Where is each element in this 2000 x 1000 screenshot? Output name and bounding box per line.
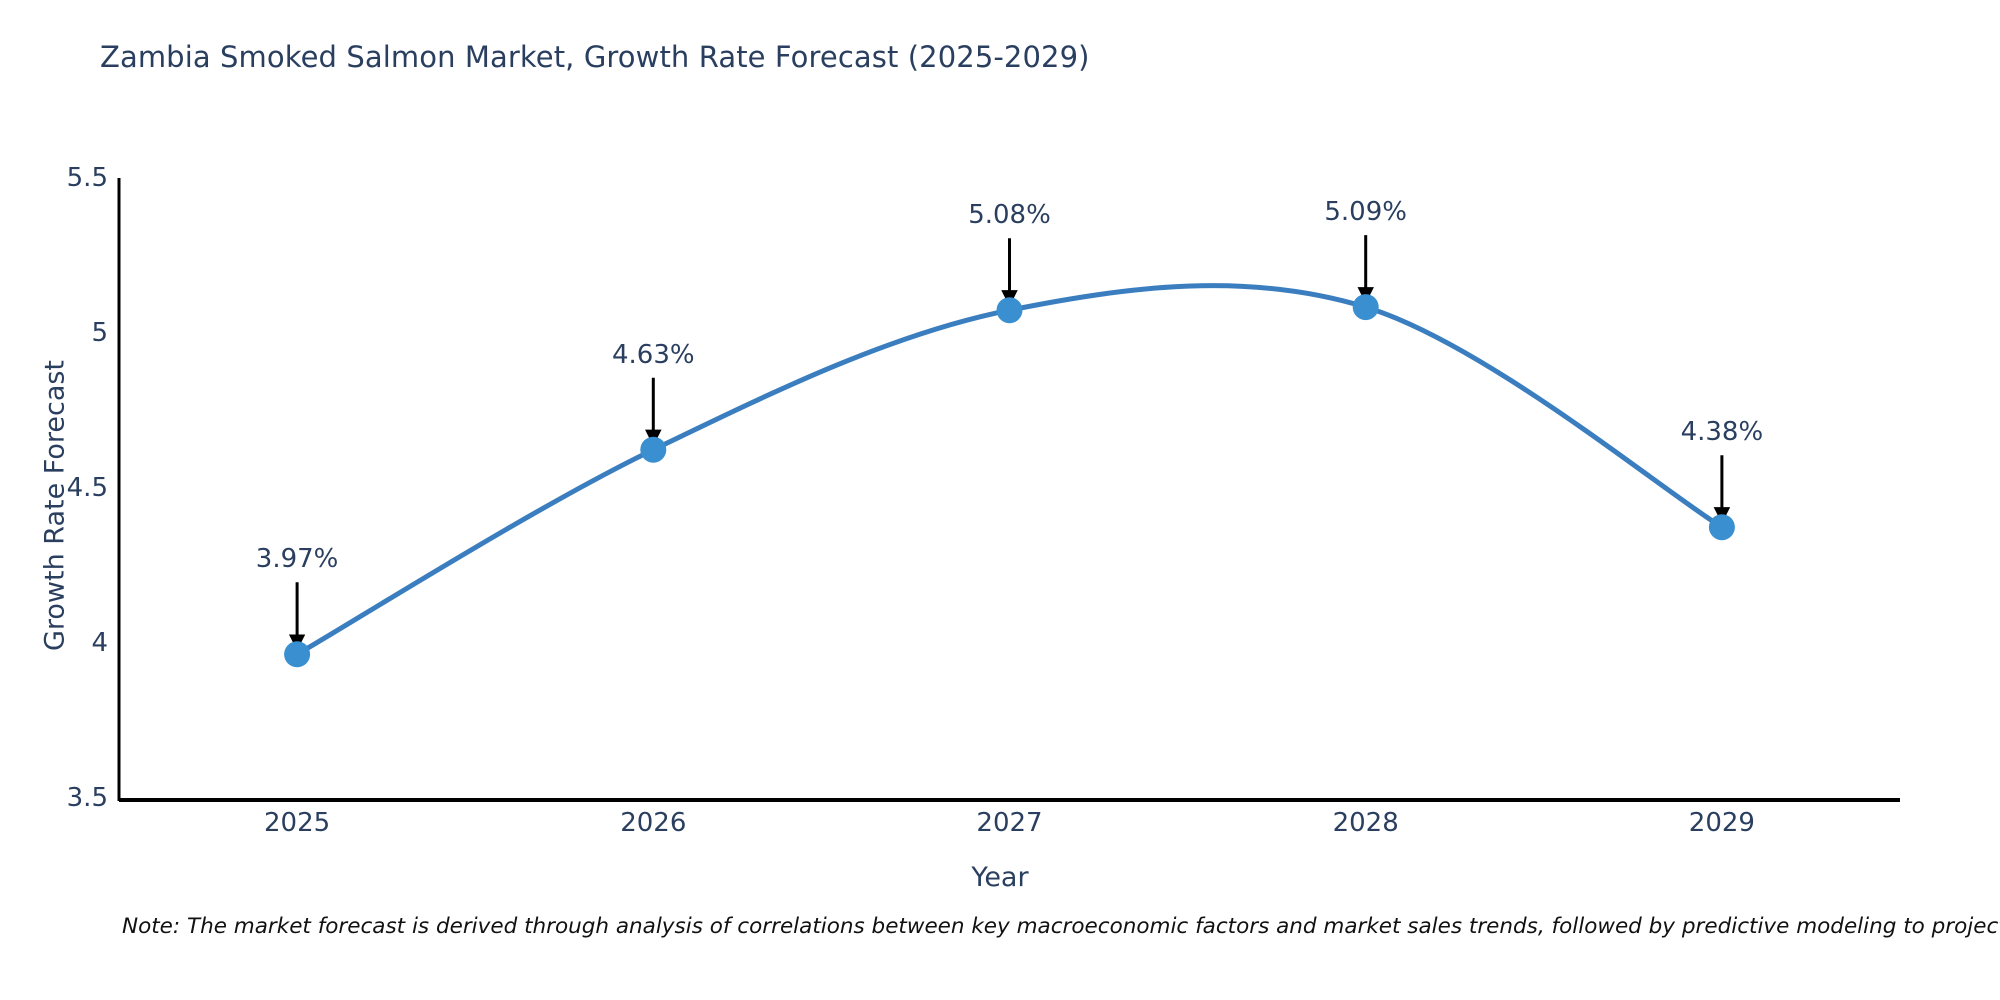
data-point-2027[interactable] (997, 297, 1023, 323)
chart-footnote: Note: The market forecast is derived thr… (122, 914, 2000, 939)
series-marker-group (284, 294, 1735, 667)
plot-area (0, 0, 2000, 1000)
data-point-2029[interactable] (1709, 514, 1735, 540)
data-point-2025[interactable] (284, 641, 310, 667)
chart-figure: Zambia Smoked Salmon Market, Growth Rate… (0, 0, 2000, 1000)
series-line-growth-rate-forecast (297, 286, 1722, 655)
data-point-2026[interactable] (640, 437, 666, 463)
annotation-arrow-group (297, 235, 1722, 648)
data-point-2028[interactable] (1353, 294, 1379, 320)
